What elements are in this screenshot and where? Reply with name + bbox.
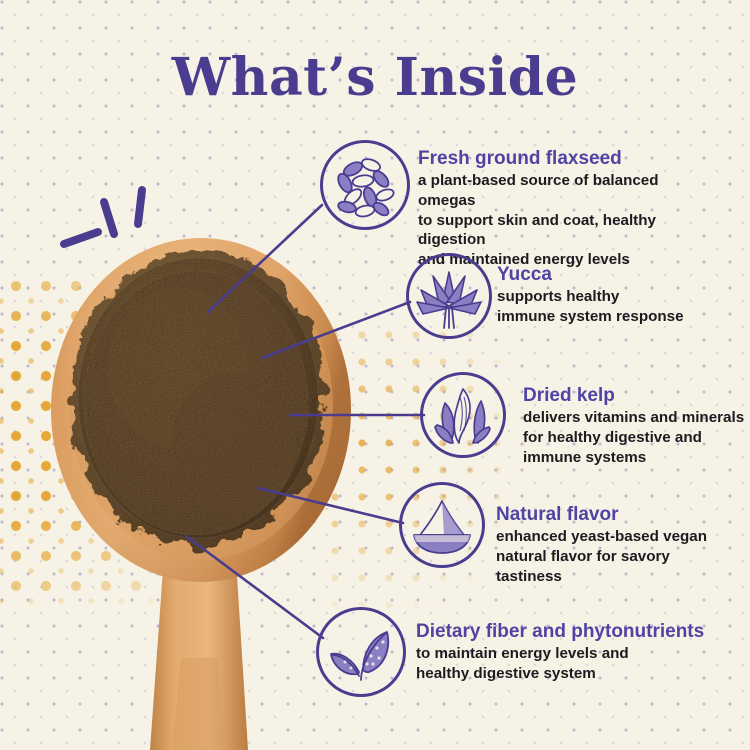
callout-body-kelp: delivers vitamins and minerals for healt… <box>523 408 750 467</box>
callout-text-flaxseed: Fresh ground flaxseed a plant-based sour… <box>418 148 718 269</box>
callout-title-yucca: Yucca <box>497 264 737 286</box>
infographic-canvas: What’s Inside <box>0 0 750 750</box>
callout-text-dietary-fiber: Dietary fiber and phytonutrients to main… <box>416 621 736 684</box>
callout-text-yucca: Yucca supports healthy immune system res… <box>497 264 737 327</box>
callout-title-natural-flavor: Natural flavor <box>496 504 736 526</box>
callout-text-natural-flavor: Natural flavor enhanced yeast-based vega… <box>496 504 736 586</box>
callout-body-natural-flavor: enhanced yeast-based vegan natural flavo… <box>496 527 736 586</box>
callout-body-yucca: supports healthy immune system response <box>497 287 737 326</box>
powder-bowl-icon[interactable] <box>399 482 485 568</box>
kelp-seaweed-icon[interactable] <box>420 372 506 458</box>
yucca-plant-icon[interactable] <box>406 253 492 339</box>
callout-body-dietary-fiber: to maintain energy levels and healthy di… <box>416 644 736 683</box>
page-title: What’s Inside <box>0 52 750 104</box>
callout-text-kelp: Dried kelp delivers vitamins and mineral… <box>523 385 750 467</box>
callout-title-dietary-fiber: Dietary fiber and phytonutrients <box>416 621 736 643</box>
callout-title-flaxseed: Fresh ground flaxseed <box>418 148 718 170</box>
two-leaves-icon[interactable] <box>316 607 406 697</box>
flaxseed-icon[interactable] <box>320 140 410 230</box>
callout-title-kelp: Dried kelp <box>523 385 750 407</box>
